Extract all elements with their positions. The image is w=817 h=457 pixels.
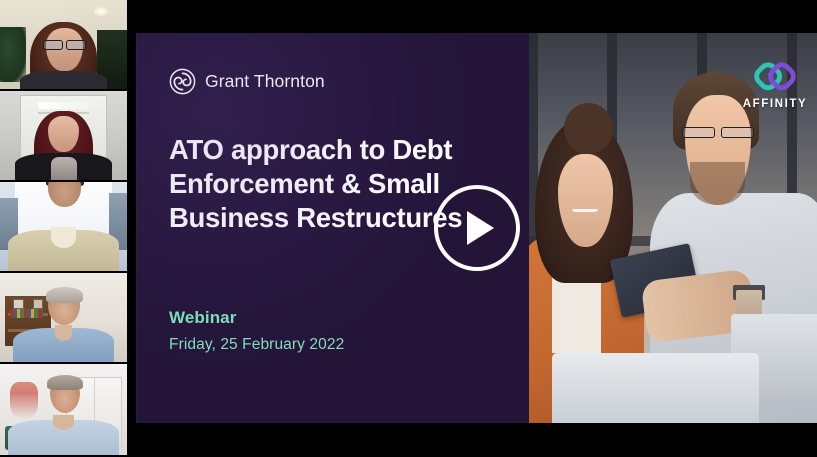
slide-photograph: AFFINITY <box>529 33 817 423</box>
participant-2-face <box>48 116 78 152</box>
participant-3-collar <box>51 227 76 248</box>
grant-thornton-wordmark: Grant Thornton <box>205 71 325 92</box>
photo-man-beard <box>690 162 745 205</box>
eyeglasses-icon <box>682 127 754 136</box>
laptop-device <box>552 353 759 423</box>
grant-thornton-logo: Grant Thornton <box>169 68 325 95</box>
participant-thumbnail-1[interactable] <box>0 0 127 91</box>
affinity-interlocking-loops-icon <box>753 57 797 97</box>
participant-5-hair <box>47 375 83 390</box>
participant-filmstrip[interactable] <box>0 0 127 457</box>
plant-decor <box>0 27 26 82</box>
participant-thumbnail-5[interactable] <box>0 364 127 455</box>
grant-thornton-swirl-icon <box>169 68 196 95</box>
participant-1-torso <box>20 71 106 91</box>
wall-decor <box>10 382 38 418</box>
participant-4-neck <box>55 325 73 341</box>
glasses-icon <box>43 40 86 48</box>
ceiling-light <box>38 102 89 109</box>
participant-2-scarf <box>51 157 78 180</box>
video-call-screen: Grant Thornton ATO approach to Debt Enfo… <box>0 0 817 457</box>
letterbox-bar-top <box>136 0 817 33</box>
webinar-title-slide: Grant Thornton ATO approach to Debt Enfo… <box>136 33 817 423</box>
slide-event-date: Friday, 25 February 2022 <box>169 336 344 354</box>
photo-woman-bun <box>564 103 613 154</box>
main-video-player[interactable]: Grant Thornton ATO approach to Debt Enfo… <box>136 0 817 457</box>
participant-4-hair <box>46 287 83 303</box>
participant-5-neck <box>53 415 73 430</box>
participant-thumbnail-4[interactable] <box>0 273 127 364</box>
affinity-wordmark: AFFINITY <box>741 98 809 110</box>
participant-thumbnail-3[interactable] <box>0 182 127 273</box>
letterbox-bar-bottom <box>136 423 817 457</box>
books-decor <box>10 309 43 318</box>
participant-thumbnail-2[interactable] <box>0 91 127 182</box>
picture-frame-decor-2 <box>33 299 43 309</box>
affinity-logo: AFFINITY <box>741 57 809 110</box>
picture-frame-decor <box>13 299 24 309</box>
slide-kicker: Webinar <box>169 308 236 328</box>
play-button[interactable] <box>434 185 520 271</box>
photo-woman-smile <box>572 209 598 212</box>
play-triangle-icon <box>467 211 494 245</box>
